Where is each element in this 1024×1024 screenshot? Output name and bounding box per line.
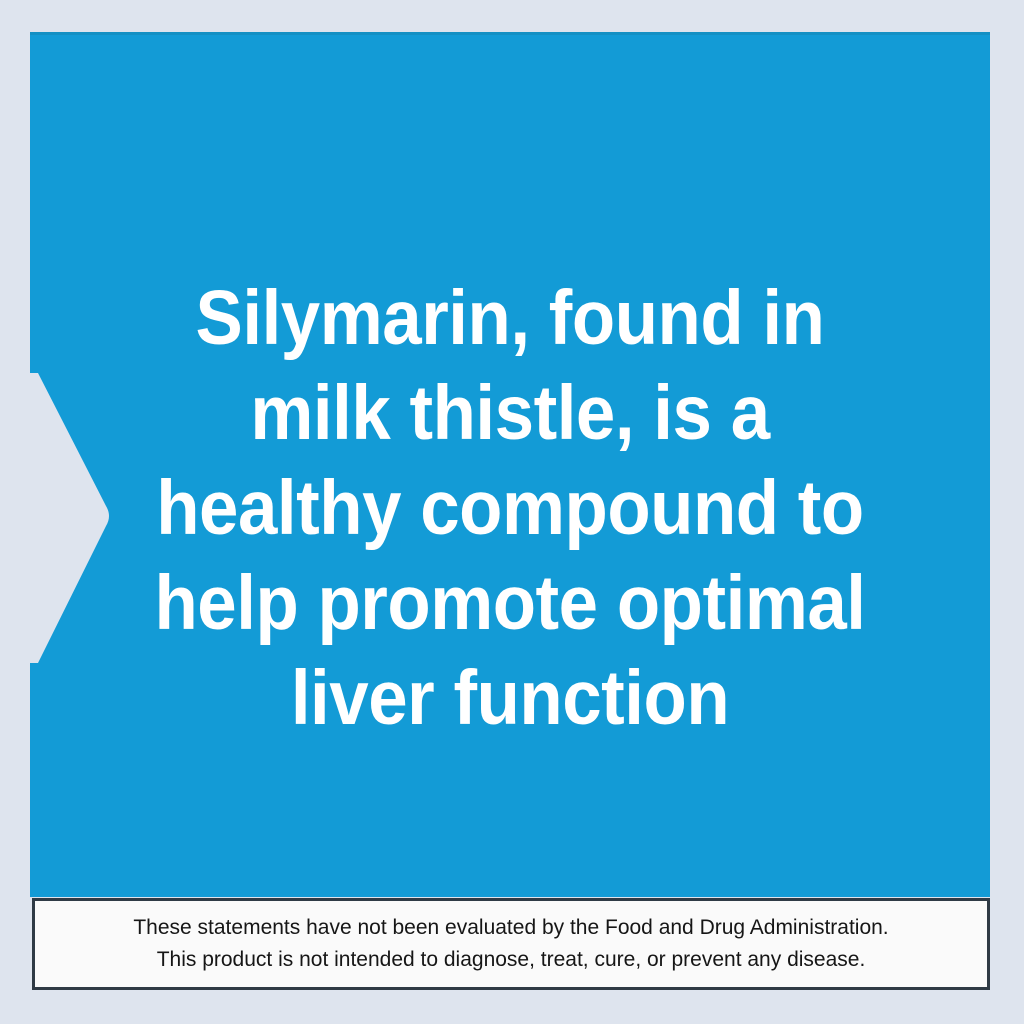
info-card-root: Silymarin, found in milk thistle, is a h… [0,0,1024,1024]
disclaimer-line-2: This product is not intended to diagnose… [157,944,866,976]
page-title: Silymarin, found in milk thistle, is a h… [68,271,951,746]
hero-panel: Silymarin, found in milk thistle, is a h… [30,32,990,897]
disclaimer-box: These statements have not been evaluated… [32,898,990,990]
disclaimer-line-1: These statements have not been evaluated… [133,912,888,944]
